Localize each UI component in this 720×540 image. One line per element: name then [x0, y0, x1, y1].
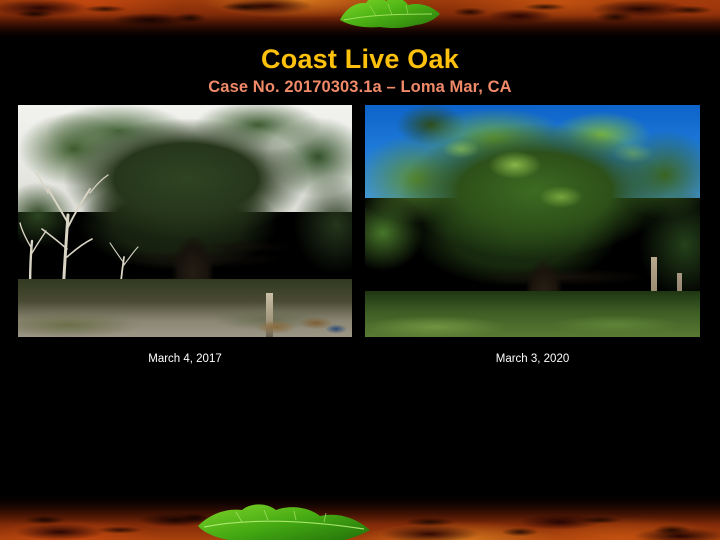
photo-left	[18, 105, 352, 337]
photo-right-image	[365, 105, 700, 337]
green-oak-leaf-icon	[196, 502, 372, 540]
slide-canvas: Coast Live Oak Case No. 20170303.1a – Lo…	[0, 0, 720, 540]
slide-subtitle: Case No. 20170303.1a – Loma Mar, CA	[0, 78, 720, 97]
photo-right-caption: March 3, 2020	[365, 353, 700, 365]
slide-title: Coast Live Oak	[0, 44, 720, 75]
photo-left-caption: March 4, 2017	[18, 353, 352, 365]
top-leaf-border	[0, 0, 720, 42]
green-oak-leaf-icon	[336, 0, 448, 30]
ground-debris	[258, 311, 348, 337]
bottom-leaf-border	[0, 492, 720, 540]
photo-right	[365, 105, 700, 337]
grassy-ground	[365, 291, 700, 337]
photo-left-image	[18, 105, 352, 337]
